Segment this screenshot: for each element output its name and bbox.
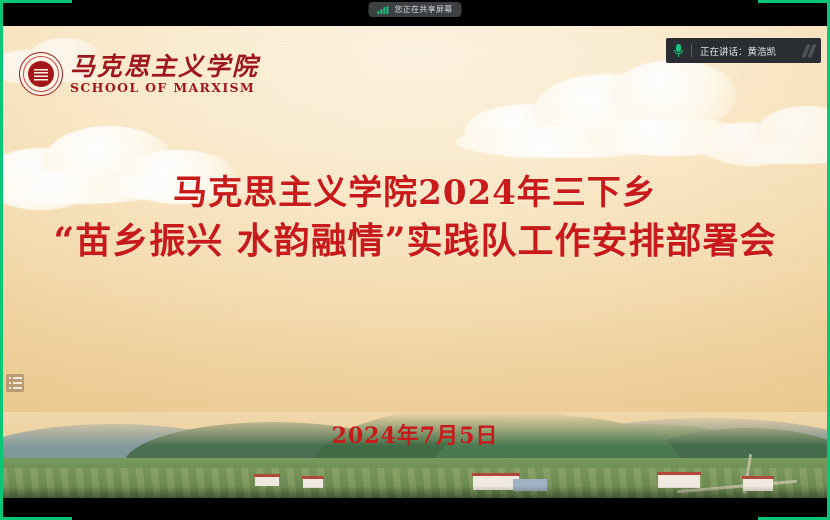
audio-wave-icon: [804, 44, 814, 57]
logo-name-en: SCHOOL OF MARXISM: [70, 82, 259, 95]
cloud-decoration-right: [703, 100, 827, 170]
slide-date: 2024年7月5日: [3, 418, 827, 450]
logo-name-cn: 马克思主义学院: [70, 54, 259, 79]
bottom-letterbox: [0, 498, 830, 520]
signal-bars-icon: [377, 6, 388, 14]
divider: [691, 44, 692, 57]
slide-title-block: 马克思主义学院2024年三下乡 “苗乡振兴 水韵融情”实践队工作安排部署会: [3, 172, 827, 264]
cloud-decoration-center: [455, 52, 755, 170]
list-menu-icon[interactable]: [6, 374, 24, 392]
screen-sharing-indicator[interactable]: 您正在共享屏幕: [368, 2, 461, 17]
university-seal-icon: [19, 52, 63, 96]
slide-title-line-2: “苗乡振兴 水韵融情”实践队工作安排部署会: [3, 218, 827, 264]
active-speaker-label: 正在讲话：黄浩凯: [700, 44, 776, 58]
screen-sharing-label: 您正在共享屏幕: [394, 4, 452, 15]
microphone-icon: [674, 44, 683, 57]
presentation-slide: 马克思主义学院 SCHOOL OF MARXISM 马克思主义学院2024年三下…: [3, 26, 827, 498]
screen-share-viewport: 马克思主义学院 SCHOOL OF MARXISM 马克思主义学院2024年三下…: [0, 0, 830, 520]
slide-title-line-1: 马克思主义学院2024年三下乡: [3, 172, 827, 216]
active-speaker-overlay[interactable]: 正在讲话：黄浩凯: [666, 38, 821, 63]
school-logo: 马克思主义学院 SCHOOL OF MARXISM: [19, 52, 259, 96]
